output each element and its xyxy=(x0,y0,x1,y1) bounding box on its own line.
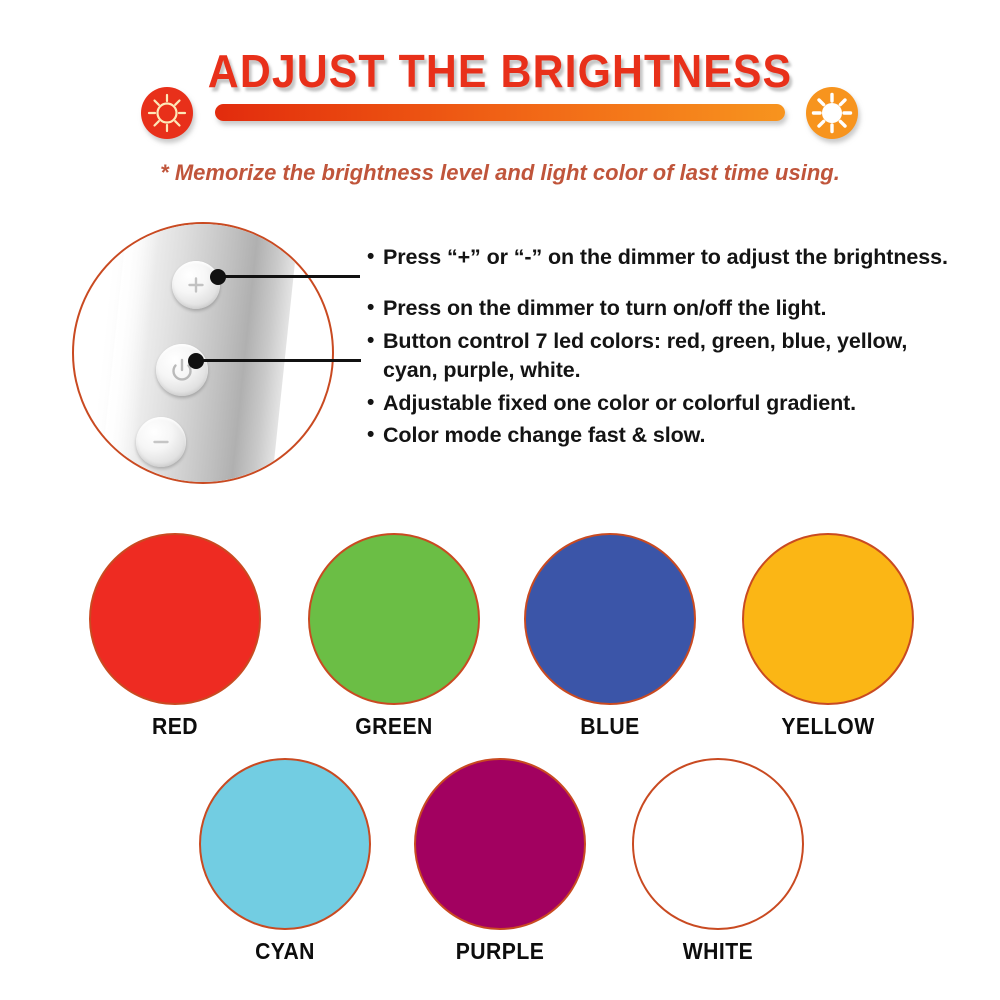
color-label-purple: PURPLE xyxy=(399,938,601,965)
list-item: • Color mode change fast & slow. xyxy=(366,421,966,450)
sun-dim-icon xyxy=(141,87,193,139)
list-item-text: Press on the dimmer to turn on/off the l… xyxy=(383,296,826,320)
plus-button[interactable] xyxy=(172,261,220,309)
leader-dot-power xyxy=(188,353,204,369)
color-swatch-blue[interactable] xyxy=(524,533,696,705)
color-swatch-red[interactable] xyxy=(89,533,261,705)
color-swatch-purple[interactable] xyxy=(414,758,586,930)
color-label-yellow: YELLOW xyxy=(727,713,929,740)
brightness-slider[interactable] xyxy=(215,104,785,121)
list-item: • Adjustable fixed one color or colorful… xyxy=(366,389,966,418)
color-label-cyan: CYAN xyxy=(184,938,386,965)
leader-dot-plus xyxy=(210,269,226,285)
color-swatch-yellow[interactable] xyxy=(742,533,914,705)
list-item-text: Button control 7 led colors: red, green,… xyxy=(383,329,907,382)
bullet-icon: • xyxy=(367,327,374,356)
color-label-blue: BLUE xyxy=(509,713,711,740)
color-label-green: GREEN xyxy=(293,713,495,740)
color-swatch-cyan[interactable] xyxy=(199,758,371,930)
bullet-icon: • xyxy=(367,294,374,323)
product-photo-circle xyxy=(72,222,334,484)
leader-line-plus xyxy=(218,275,360,278)
list-item-text: Press “+” or “-” on the dimmer to adjust… xyxy=(383,245,948,269)
subtitle-note: * Memorize the brightness level and ligh… xyxy=(0,160,1000,186)
minus-button[interactable] xyxy=(136,417,186,467)
list-item: • Press “+” or “-” on the dimmer to adju… xyxy=(366,243,966,272)
leader-line-power xyxy=(196,359,361,362)
bullet-icon: • xyxy=(367,421,374,450)
color-swatch-green[interactable] xyxy=(308,533,480,705)
instruction-list: • Press “+” or “-” on the dimmer to adju… xyxy=(366,243,966,451)
sun-bright-icon xyxy=(806,87,858,139)
bullet-icon: • xyxy=(367,389,374,418)
list-item: • Press on the dimmer to turn on/off the… xyxy=(366,294,966,323)
header-banner: ADJUST THE BRIGHTNESS xyxy=(0,0,1000,150)
list-item: • Button control 7 led colors: red, gree… xyxy=(366,327,966,386)
color-label-white: WHITE xyxy=(617,938,819,965)
power-button[interactable] xyxy=(156,344,208,396)
list-item-text: Color mode change fast & slow. xyxy=(383,423,705,447)
color-swatch-white[interactable] xyxy=(632,758,804,930)
color-label-red: RED xyxy=(74,713,276,740)
bullet-icon: • xyxy=(367,243,374,272)
list-item-text: Adjustable fixed one color or colorful g… xyxy=(383,391,856,415)
